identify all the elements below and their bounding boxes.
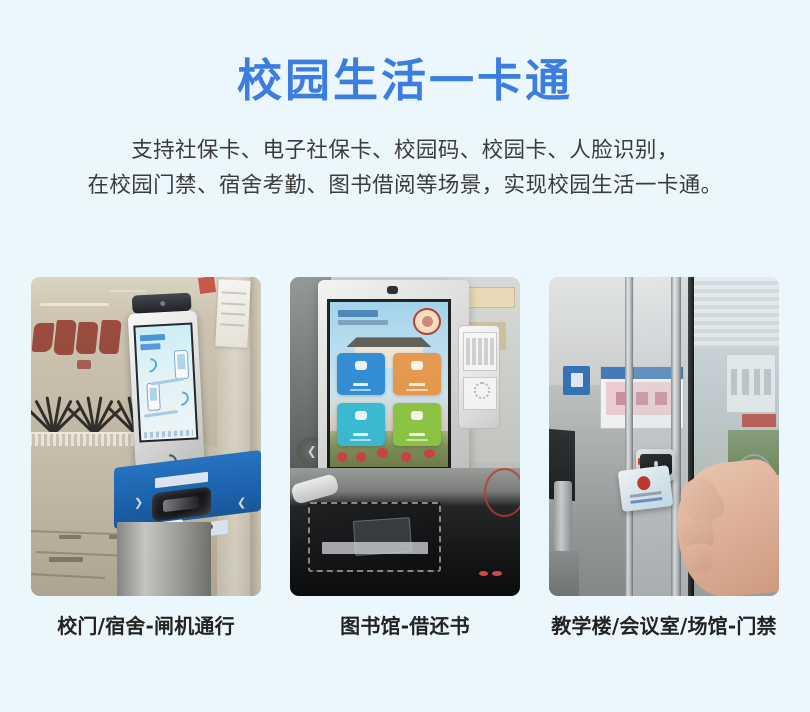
instruction-panel <box>458 325 499 429</box>
kiosk-touchscreen[interactable] <box>327 299 451 470</box>
plant-icon <box>36 382 68 433</box>
ceiling-light-secondary <box>109 290 146 292</box>
camera-icon <box>132 292 192 313</box>
calligraphy-seal <box>77 360 91 369</box>
tile-label <box>409 433 424 436</box>
tile-renew[interactable] <box>393 403 441 446</box>
plant-icon <box>77 382 109 433</box>
gate-roof <box>346 335 431 348</box>
national-emblem-icon <box>637 476 652 492</box>
card-caption: 校门/宿舍-闸机通行 <box>57 610 235 639</box>
instruction-text-block <box>463 332 497 371</box>
card-text-line <box>631 497 663 504</box>
tile-return[interactable] <box>393 353 441 396</box>
scenario-card-door-access[interactable]: 教学楼/会议室/场馆-门禁 <box>549 277 779 639</box>
interior-floor <box>549 551 579 596</box>
outdoor-building <box>726 354 776 413</box>
glass-panel <box>634 277 671 596</box>
phone-illustration <box>146 383 160 411</box>
search-icon <box>355 411 367 420</box>
tile-borrow[interactable] <box>337 353 385 396</box>
card-caption: 图书馆-借还书 <box>340 610 470 639</box>
door-mullion <box>625 277 633 596</box>
illustration-surface <box>144 410 178 418</box>
wall-calligraphy-serve-the-people <box>33 318 139 356</box>
nfc-wave-icon <box>141 356 161 376</box>
campus-gate-turnstile-photo: ❯ ❮ <box>31 277 261 596</box>
lobby-bench <box>554 481 572 551</box>
phone-illustration <box>173 350 189 380</box>
subtitle-line-1: 支持社保卡、电子社保卡、校园码、校园卡、人脸识别， <box>0 134 810 169</box>
tile-label <box>409 383 424 386</box>
page-header: 校园生活一卡通 支持社保卡、电子社保卡、校园码、校园卡、人脸识别， 在校园门禁、… <box>0 0 810 204</box>
turnstile-pillar <box>117 522 211 596</box>
tile-sublabel <box>350 439 371 441</box>
scenario-card-library[interactable]: ❮ <box>290 277 520 639</box>
status-led-icon <box>492 571 501 576</box>
outdoor-red-banner <box>742 414 776 427</box>
paper-roll <box>290 473 340 505</box>
wall-sign-icon <box>563 366 591 395</box>
page-subtitle: 支持社保卡、电子社保卡、校园码、校园卡、人脸识别， 在校园门禁、宿舍考勤、图书借… <box>0 134 810 204</box>
tray-label <box>322 542 428 553</box>
page-title: 校园生活一卡通 <box>0 56 810 106</box>
chevron-right-icon: ❯ <box>134 496 143 510</box>
door-access-control-card-tap-photo <box>549 277 779 596</box>
kiosk-screen-title <box>338 310 378 317</box>
wall-notice-paper <box>216 279 252 348</box>
book-icon <box>355 361 367 370</box>
subtitle-line-2: 在校园门禁、宿舍考勤、图书借阅等场景，实现校园生活一卡通。 <box>0 169 810 204</box>
scenario-card-list: ❯ ❮ 校门/宿舍-闸机通行 ❮ <box>0 277 810 639</box>
kiosk-menu-tiles <box>337 353 441 446</box>
self-service-kiosk[interactable] <box>318 280 470 484</box>
library-seal-logo <box>413 308 441 335</box>
library-self-service-kiosk-photo: ❮ <box>290 277 520 596</box>
floor-notch <box>49 557 83 562</box>
terminal-screen[interactable] <box>133 322 198 443</box>
tile-search[interactable] <box>337 403 385 446</box>
illustration-surface <box>150 378 184 386</box>
ceiling-light <box>40 303 109 306</box>
chevron-left-icon: ❮ <box>237 496 246 510</box>
floor-notch <box>59 535 81 539</box>
promo-page: 校园生活一卡通 支持社保卡、电子社保卡、校园码、校园卡、人脸识别， 在校园门禁、… <box>0 0 810 712</box>
floor-seam <box>31 573 105 579</box>
screen-headline <box>140 334 165 342</box>
outdoor-canopy <box>694 277 779 347</box>
tile-label <box>353 433 368 436</box>
status-led-icon <box>479 571 488 576</box>
status-led-icon <box>638 458 640 466</box>
nfc-wave-icon <box>172 389 192 409</box>
highlight-circle <box>484 468 520 517</box>
scenario-card-gate[interactable]: ❯ ❮ 校门/宿舍-闸机通行 <box>31 277 261 639</box>
renew-icon <box>411 411 423 420</box>
tile-sublabel <box>406 389 427 391</box>
face-recognition-terminal[interactable] <box>128 310 206 479</box>
tile-sublabel <box>350 389 371 391</box>
screen-bottom-bar <box>144 430 193 438</box>
screen-subheadline <box>141 343 161 351</box>
return-icon <box>411 361 423 370</box>
card-caption: 教学楼/会议室/场馆-门禁 <box>551 610 777 639</box>
social-security-card <box>618 465 673 512</box>
turnstile-gate[interactable]: ❯ ❮ <box>114 468 261 596</box>
kiosk-screen-subtitle <box>338 320 388 325</box>
tile-label <box>353 383 368 386</box>
camera-icon <box>387 286 398 294</box>
finger <box>681 542 713 574</box>
building-interior <box>549 277 632 596</box>
red-tag <box>198 277 216 294</box>
instruction-diagram-block <box>463 377 497 410</box>
tile-sublabel <box>406 439 427 441</box>
